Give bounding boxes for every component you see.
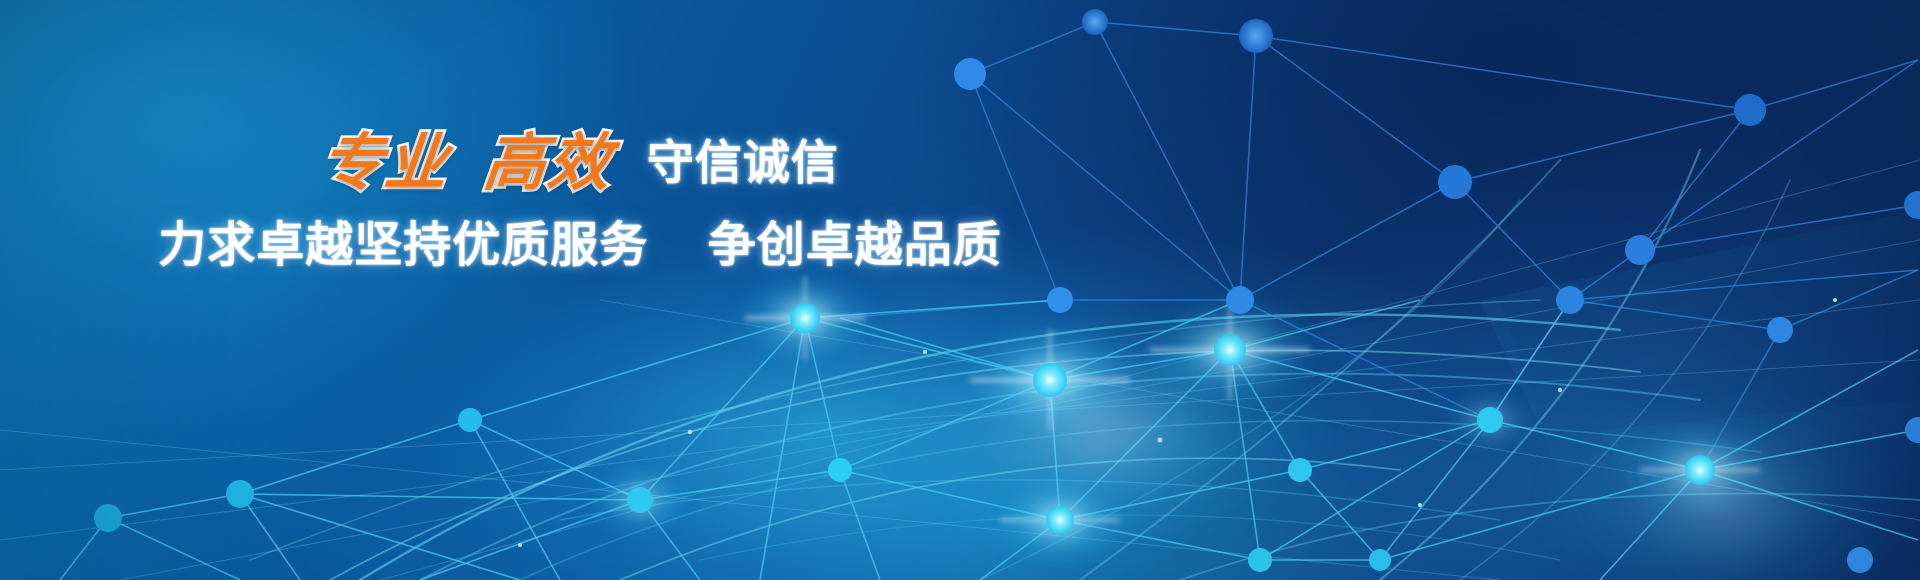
network-mesh-graphic [0, 0, 1920, 580]
network-nodes-blue [954, 9, 1920, 573]
background-glow-bottom [0, 0, 1920, 580]
slogan-line-1: 专业 高效 守信诚信 [0, 132, 1160, 206]
node-flares [588, 272, 1900, 580]
star-streaks [745, 276, 1760, 520]
slogan-orange-phrase-1: 专业 [318, 132, 453, 194]
background-glow-right [0, 0, 1920, 580]
background-dark-top-right [0, 0, 1920, 580]
slogan-text-block: 专业 高效 守信诚信 力求卓越坚持优质服务 争创卓越品质 [0, 132, 1160, 272]
network-nodes-cyan [94, 303, 1715, 572]
slogan-subline-part-1: 力求卓越坚持优质服务 [158, 217, 648, 273]
background-glow-center [0, 0, 1920, 580]
background-glow-top-left [0, 0, 1920, 580]
slogan-orange-phrase-2: 高效 [481, 132, 616, 194]
slogan-subline-part-2: 争创卓越品质 [708, 217, 1002, 273]
background-vignette [0, 0, 1920, 580]
background-gradient-base [0, 0, 1920, 580]
slogan-line-2: 力求卓越坚持优质服务 争创卓越品质 [0, 220, 1160, 272]
sparkles [518, 298, 1837, 547]
mesh-lines-cyan [60, 300, 1918, 580]
promo-banner: 专业 高效 守信诚信 力求卓越坚持优质服务 争创卓越品质 [0, 0, 1920, 580]
slogan-white-phrase: 守信诚信 [647, 140, 839, 187]
